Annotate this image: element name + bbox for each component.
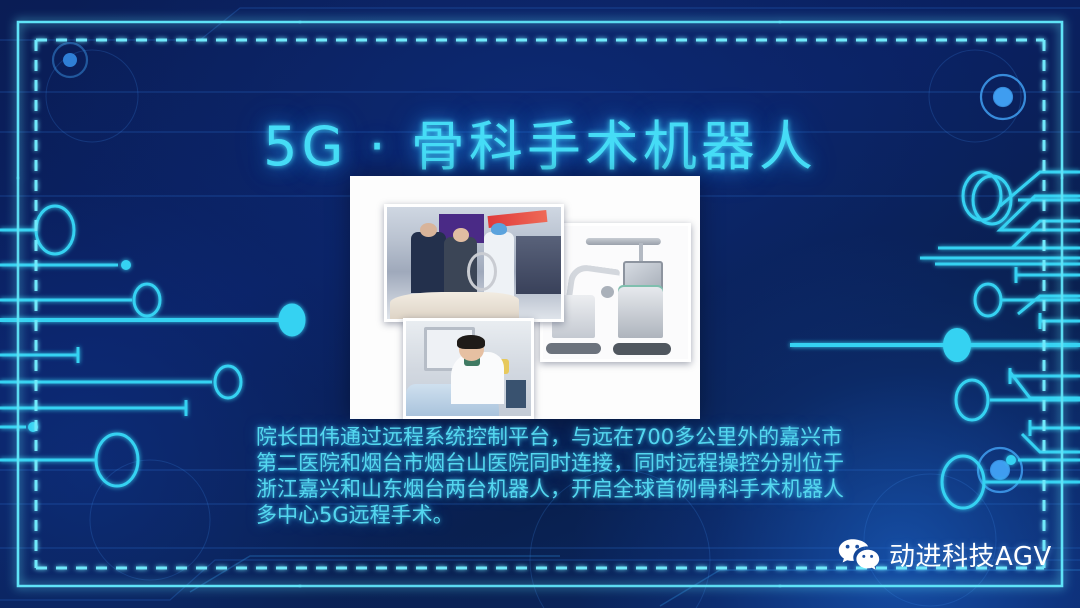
photo-collage-card	[350, 176, 700, 419]
doctor-bedside-image	[406, 321, 531, 416]
body-paragraph: 院长田伟通过远程系统控制平台，与远在700多公里外的嘉兴市 第二医院和烟台市烟台…	[256, 424, 906, 528]
body-line-3: 浙江嘉兴和山东烟台两台机器人，开启全球首例骨科手术机器人	[256, 476, 906, 502]
surgical-robot-image	[543, 226, 688, 359]
watermark: 动进科技AGV	[838, 536, 1052, 573]
slide-root: 5G · 骨科手术机器人	[0, 0, 1080, 608]
photo-doctor-bedside	[403, 318, 534, 419]
body-line-4: 多中心5G远程手术。	[256, 502, 906, 528]
body-line-2: 第二医院和烟台市烟台山医院同时连接，同时远程操控分别位于	[256, 450, 906, 476]
page-title: 5G · 骨科手术机器人	[0, 102, 1080, 181]
watermark-label: 动进科技AGV	[889, 536, 1052, 573]
photo-operating-room	[384, 204, 564, 322]
operating-room-image	[387, 207, 561, 319]
wechat-icon	[838, 538, 880, 572]
body-line-1: 院长田伟通过远程系统控制平台，与远在700多公里外的嘉兴市	[256, 424, 906, 450]
